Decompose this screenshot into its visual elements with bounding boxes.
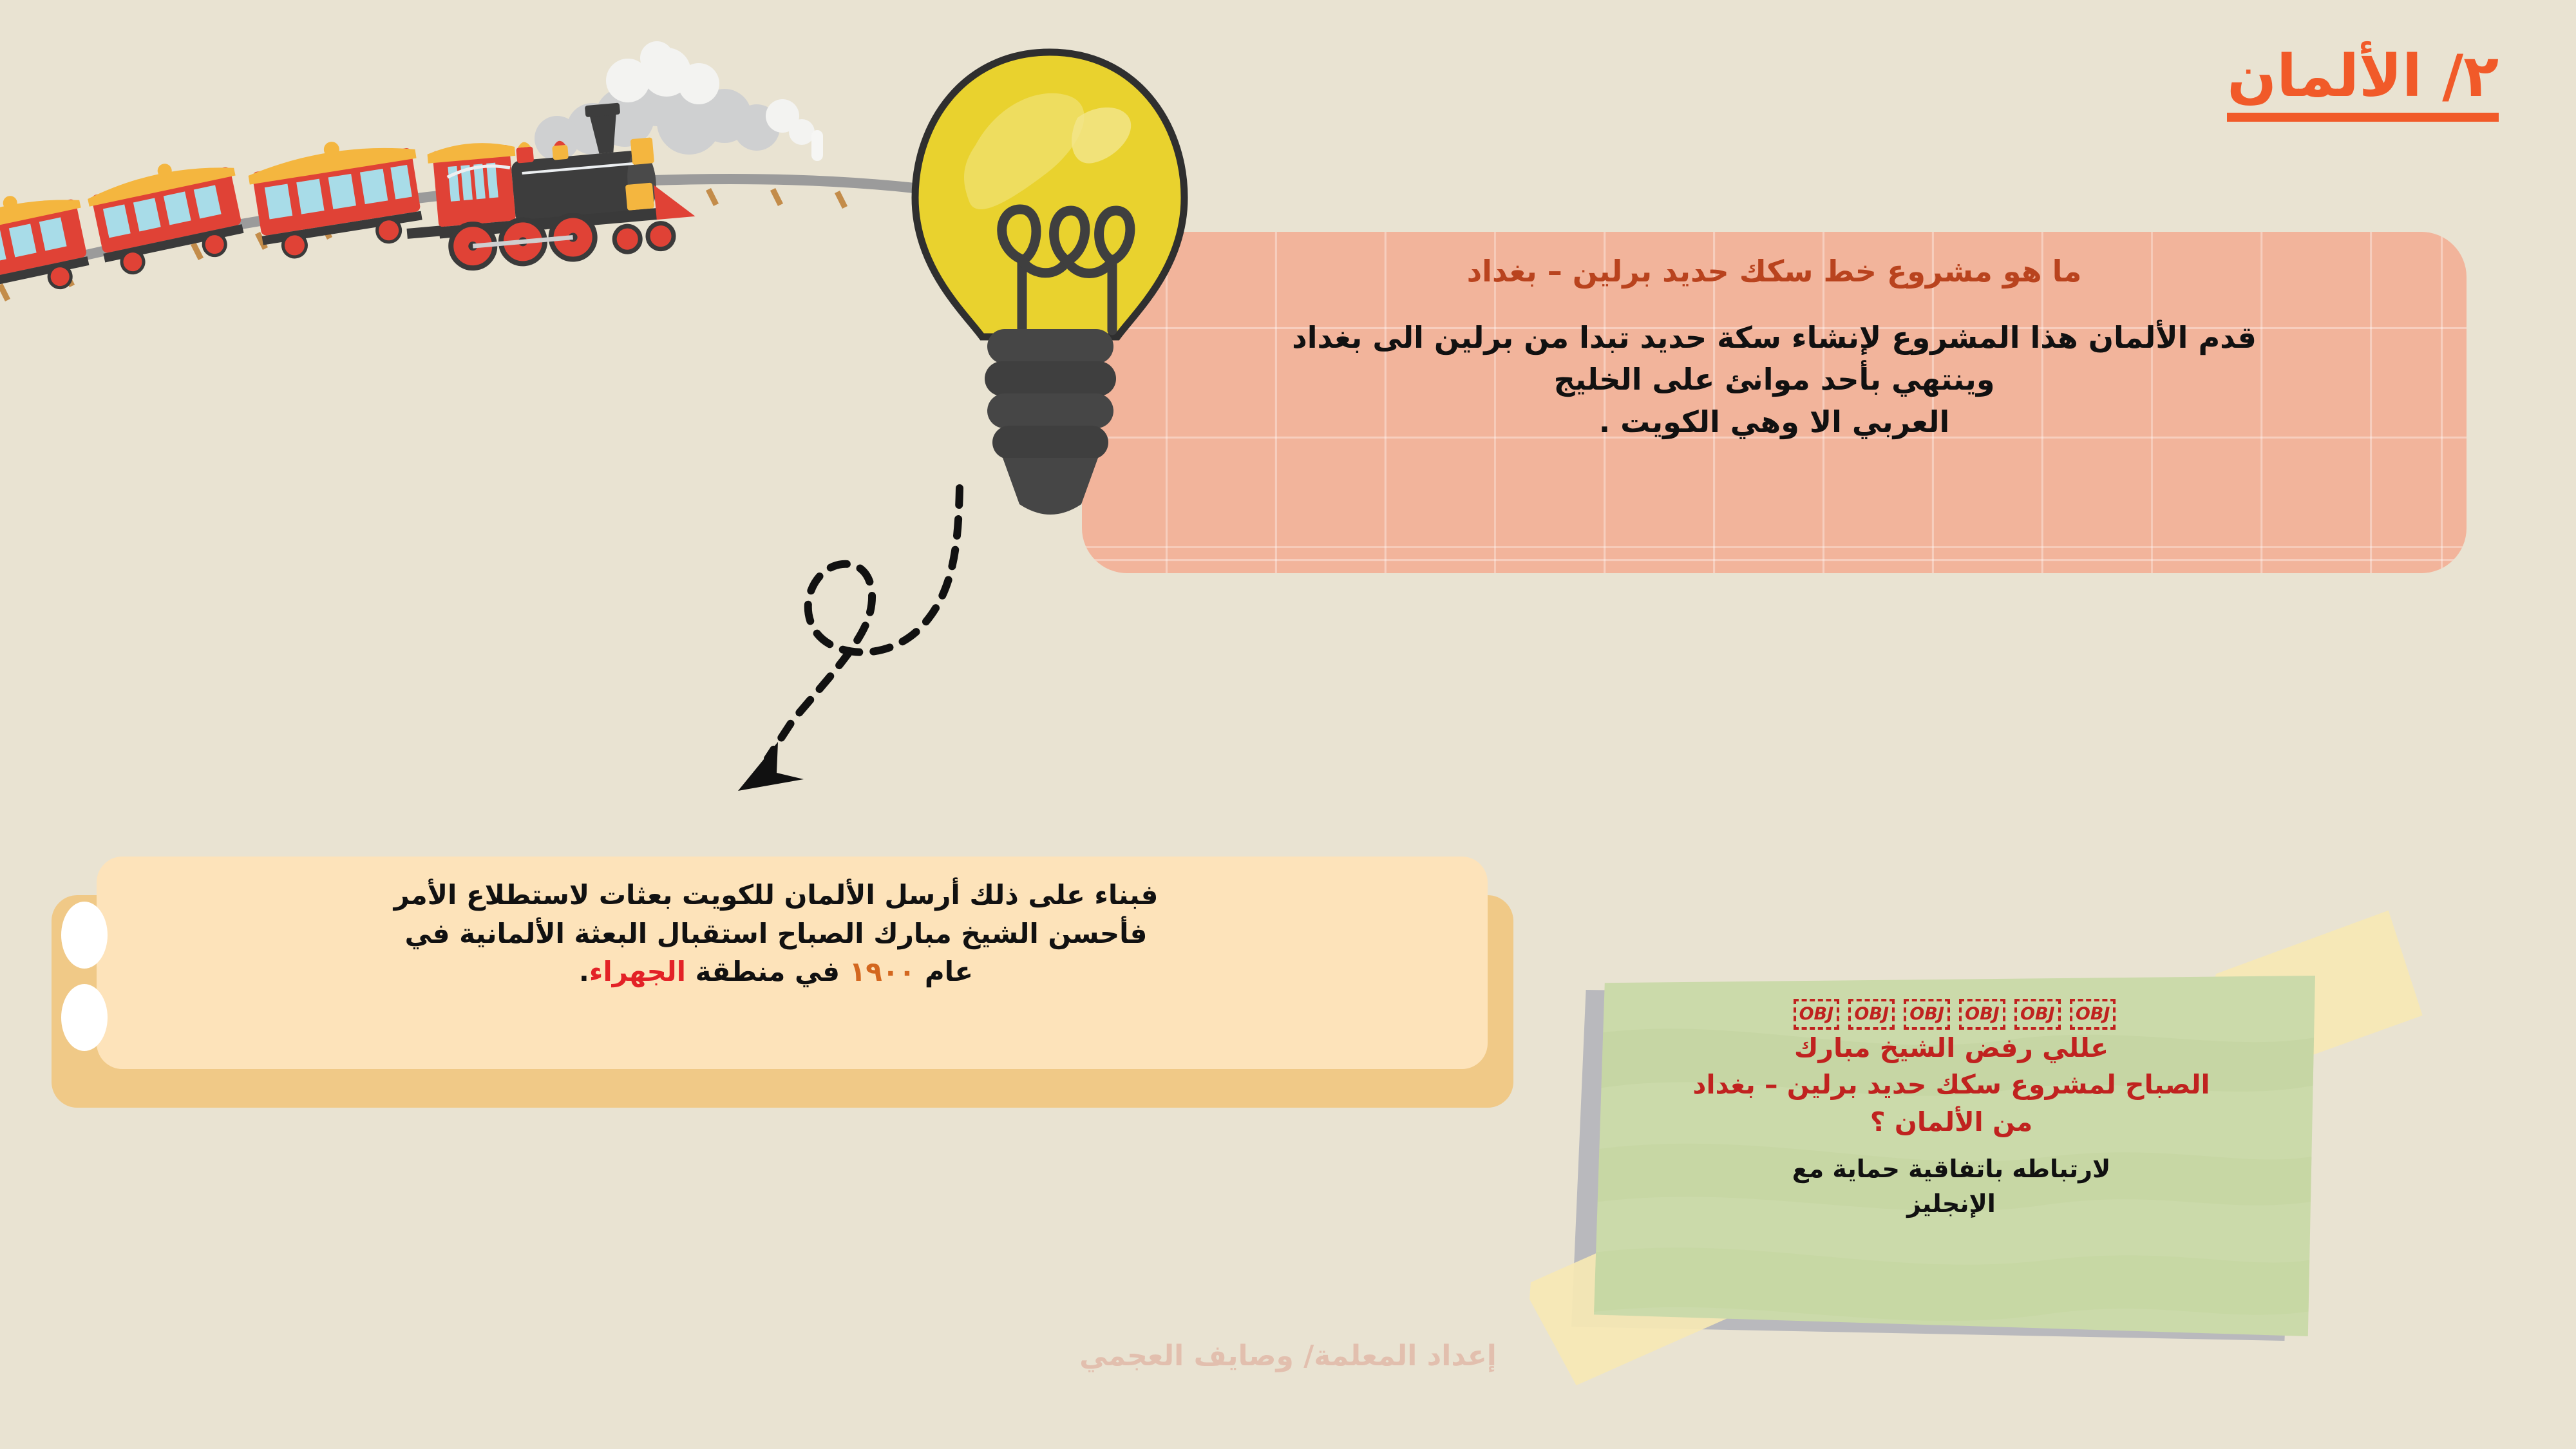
orange-line3-suffix: . <box>579 956 589 987</box>
page-title-wrapper: ٢/ الألمان <box>2227 46 2499 122</box>
smoke-cloud-icon <box>535 41 823 161</box>
obj-placeholder: OBJ <box>1904 999 1950 1030</box>
pink-card-heading: ما هو مشروع خط سكك حديد برلين – بغداد <box>1127 254 2421 289</box>
green-note-answer: لارتباطه باتفاقية حماية مع الإنجليز <box>1626 1152 2277 1222</box>
green-note-question: OBJ OBJ OBJ OBJ OBJ OBJ عللي رفض الشيخ م… <box>1626 992 2277 1141</box>
green-question-line-1: OBJ OBJ OBJ OBJ OBJ OBJ عللي رفض الشيخ م… <box>1626 992 2277 1066</box>
green-answer-line-1: لارتباطه باتفاقية حماية مع <box>1626 1152 2277 1187</box>
slide-canvas: ٢/ الألمان ما هو مشروع خط سكك حديد برلين… <box>0 0 2576 1449</box>
obj-placeholder: OBJ <box>1959 999 2005 1030</box>
obj-placeholder: OBJ <box>2070 999 2116 1030</box>
green-question-line-3: من الألمان ؟ <box>1626 1104 2277 1141</box>
obj-placeholder: OBJ <box>1848 999 1895 1030</box>
green-question-line-2: الصباح لمشروع سكك حديد برلين – بغداد <box>1626 1066 2277 1103</box>
green-answer-line-2: الإنجليز <box>1626 1187 2277 1222</box>
green-note-wrapper: OBJ OBJ OBJ OBJ OBJ OBJ عللي رفض الشيخ م… <box>1565 956 2351 1356</box>
binder-hole <box>61 984 108 1051</box>
orange-note-card: فبناء على ذلك أرسل الألمان للكويت بعثات … <box>97 857 1488 1069</box>
orange-line3-year: ١٩٠٠ <box>849 956 916 987</box>
orange-note-line-3: عام ١٩٠٠ في منطقة الجهراء. <box>142 952 1410 991</box>
train-carriage <box>84 149 251 279</box>
obj-placeholder: OBJ <box>1794 999 1840 1030</box>
orange-note-line-2: فأحسن الشيخ مبارك الصباح استقبال البعثة … <box>142 914 1410 953</box>
pink-body-line-2: وينتهي بأحد موانئ على الخليج <box>1127 359 2421 401</box>
train-carriage <box>245 129 429 262</box>
obj-placeholder: OBJ <box>2014 999 2061 1030</box>
orange-line3-prefix: عام <box>915 956 973 987</box>
green-question-text-1: عللي رفض الشيخ مبارك <box>1794 1032 2108 1063</box>
pink-card-body: قدم الألمان هذا المشروع لإنشاء سكة حديد … <box>1127 317 2421 443</box>
pink-body-line-3: العربي الا وهي الكويت . <box>1127 401 2421 443</box>
obj-placeholder-row: OBJ OBJ OBJ OBJ OBJ OBJ <box>1633 992 2277 1030</box>
pink-info-card: ما هو مشروع خط سكك حديد برلين – بغداد قد… <box>1082 232 2467 573</box>
orange-line3-place: الجهراء <box>589 956 686 987</box>
train-carriage <box>0 182 97 303</box>
binder-hole <box>61 902 108 969</box>
steam-train-icon <box>0 19 940 303</box>
page-title: ٢/ الألمان <box>2227 46 2499 122</box>
green-note-card: OBJ OBJ OBJ OBJ OBJ OBJ عللي رفض الشيخ م… <box>1594 976 2315 1336</box>
lightbulb-icon <box>905 35 1195 570</box>
pink-body-line-1: قدم الألمان هذا المشروع لإنشاء سكة حديد … <box>1127 317 2421 359</box>
orange-note-line-1: فبناء على ذلك أرسل الألمان للكويت بعثات … <box>142 876 1410 914</box>
orange-line3-middle: في منطقة <box>686 956 849 987</box>
